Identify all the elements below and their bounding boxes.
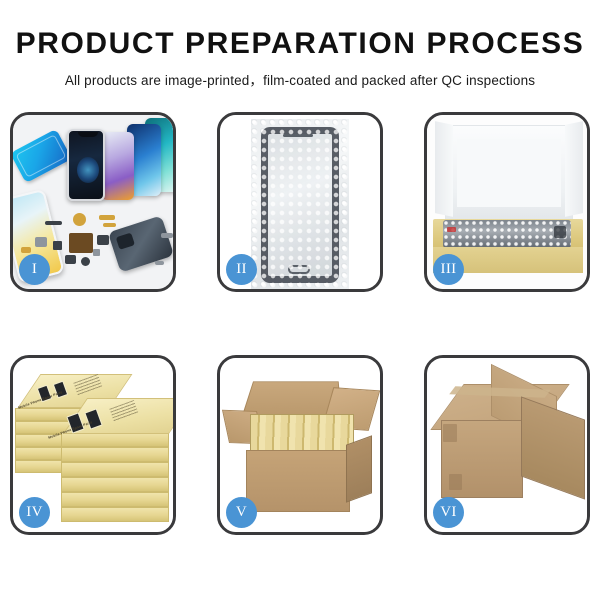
process-step-6: VI <box>424 355 590 535</box>
box-inner-surface <box>457 139 561 207</box>
screen-earpiece-slot <box>283 134 313 137</box>
step-badge-6: VI <box>433 497 464 528</box>
part-vibration-motor <box>81 257 90 266</box>
screen-assembly <box>261 127 339 283</box>
step-badge-3: III <box>433 254 464 285</box>
part-antenna-clip <box>21 247 31 253</box>
page-title: PRODUCT PREPARATION PROCESS <box>0 28 600 60</box>
part-chip-grid <box>69 233 93 253</box>
wrapped-screen-in-box <box>443 220 571 248</box>
box-lid-flap-right <box>565 121 583 217</box>
stacked-box-front-6 <box>61 507 169 522</box>
part-flex-cable-a <box>99 215 115 220</box>
part-ic-chip <box>53 241 62 250</box>
part-screw-plate <box>93 249 100 256</box>
part-tool-pry <box>161 233 173 238</box>
phone-black-front-panel <box>67 129 105 201</box>
part-speaker-module <box>73 213 86 226</box>
stacked-box-front-2 <box>61 447 169 462</box>
product-preparation-process-page: PRODUCT PREPARATION PROCESS All products… <box>0 0 600 600</box>
page-header: PRODUCT PREPARATION PROCESS All products… <box>0 0 600 89</box>
part-connector-strip <box>45 221 62 225</box>
stacked-box-front-3 <box>61 462 169 477</box>
carton-tab-lower <box>449 474 462 490</box>
phone-purple-gradient <box>101 132 134 200</box>
process-step-3: III <box>424 112 590 292</box>
stacked-box-front-5 <box>61 492 169 507</box>
process-step-grid: I II III <box>10 112 590 535</box>
step-badge-4: IV <box>19 497 50 528</box>
step-badge-1: I <box>19 254 50 285</box>
box-lid-flap-left <box>435 121 453 217</box>
process-step-5: V <box>217 355 383 535</box>
process-step-1: I <box>10 112 176 292</box>
part-tool-tweezer <box>155 261 164 265</box>
part-button-set <box>65 255 76 264</box>
step-badge-2: II <box>226 254 257 285</box>
screen-home-button <box>288 265 310 274</box>
part-bracket <box>35 237 47 247</box>
step-badge-5: V <box>226 497 257 528</box>
process-step-2: II <box>217 112 383 292</box>
stacked-box-front-4 <box>61 477 169 492</box>
part-flex-cable-b <box>103 223 116 227</box>
part-camera-module <box>97 235 109 245</box>
phone-back-cover-blue <box>13 129 72 183</box>
stacked-box-front-1 <box>61 432 169 447</box>
sealed-carton-right <box>521 396 585 499</box>
carton-contents-yellow-boxes <box>250 414 354 454</box>
carton-side-panel <box>346 435 372 502</box>
carton-tab-upper <box>443 424 457 442</box>
carton-front-panel <box>246 450 350 512</box>
page-subtitle: All products are image-printed，film-coat… <box>0 69 600 89</box>
process-step-4: Mobile Phone Spare Parts Mobile Phone Sp… <box>10 355 176 535</box>
